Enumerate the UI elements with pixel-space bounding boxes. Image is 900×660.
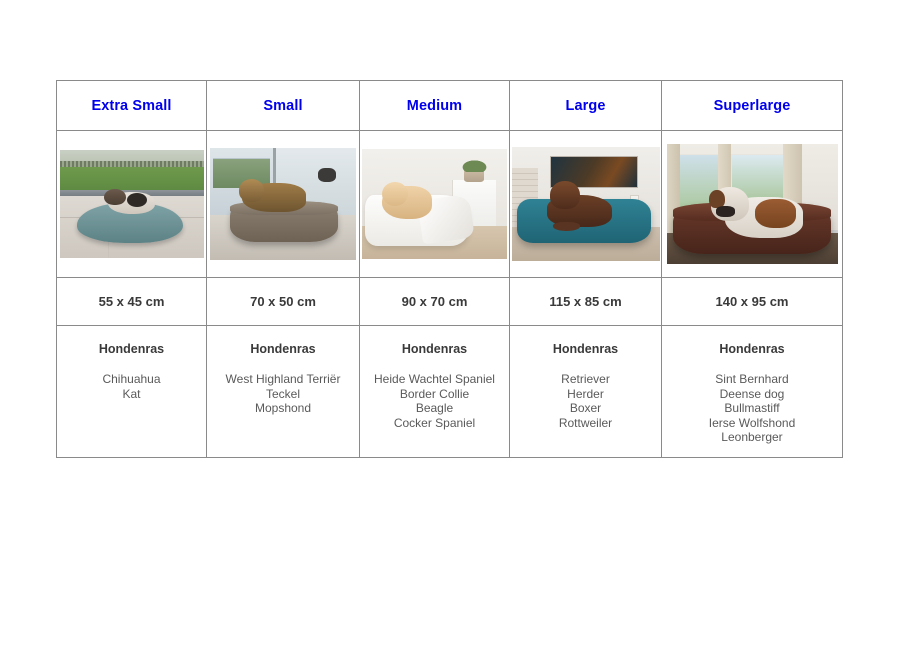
breed-item: West Highland Terriër — [207, 372, 359, 387]
breeds-title-large: Hondenras — [510, 342, 661, 356]
breeds-list-small: West Highland TerriërTeckelMopshond — [207, 372, 359, 416]
product-photo-superlarge — [667, 144, 838, 264]
header-cell-large: Large — [510, 81, 662, 131]
breeds-list-medium: Heide Wachtel SpanielBorder CollieBeagle… — [360, 372, 509, 430]
breed-item: Chihuahua — [57, 372, 206, 387]
breeds-list-large: RetrieverHerderBoxerRottweiler — [510, 372, 661, 430]
product-photo-extra-small — [60, 150, 204, 258]
breeds-title-extra-small: Hondenras — [57, 342, 206, 356]
size-name-small: Small — [207, 98, 359, 114]
breed-item: Teckel — [207, 387, 359, 402]
breeds-cell-superlarge: Hondenras Sint BernhardDeense dogBullmas… — [662, 326, 843, 458]
breed-item: Boxer — [510, 401, 661, 416]
breeds-cell-medium: Hondenras Heide Wachtel SpanielBorder Co… — [360, 326, 510, 458]
breed-item: Retriever — [510, 372, 661, 387]
breeds-cell-large: Hondenras RetrieverHerderBoxerRottweiler — [510, 326, 662, 458]
image-cell-small — [207, 131, 360, 278]
product-photo-medium — [362, 149, 507, 259]
breeds-list-superlarge: Sint BernhardDeense dogBullmastiffIerse … — [662, 372, 842, 445]
image-cell-extra-small — [57, 131, 207, 278]
dog-bed-size-table: Extra Small Small Medium Large Superlarg… — [56, 80, 843, 458]
breed-item: Beagle — [360, 401, 509, 416]
product-photo-small — [210, 148, 356, 260]
breed-item: Rottweiler — [510, 416, 661, 431]
breed-item: Cocker Spaniel — [360, 416, 509, 431]
dimensions-cell-large: 115 x 85 cm — [510, 278, 662, 326]
dimensions-cell-medium: 90 x 70 cm — [360, 278, 510, 326]
table-header-row: Extra Small Small Medium Large Superlarg… — [57, 81, 843, 131]
dimensions-large: 115 x 85 cm — [510, 294, 661, 309]
table-dimensions-row: 55 x 45 cm 70 x 50 cm 90 x 70 cm 115 x 8… — [57, 278, 843, 326]
product-photo-large — [512, 147, 660, 261]
header-cell-medium: Medium — [360, 81, 510, 131]
header-cell-extra-small: Extra Small — [57, 81, 207, 131]
dimensions-extra-small: 55 x 45 cm — [57, 294, 206, 309]
size-chart-page: Extra Small Small Medium Large Superlarg… — [0, 0, 900, 660]
breed-item: Sint Bernhard — [662, 372, 842, 387]
dimensions-cell-superlarge: 140 x 95 cm — [662, 278, 843, 326]
breed-item: Heide Wachtel Spaniel — [360, 372, 509, 387]
size-name-superlarge: Superlarge — [662, 98, 842, 114]
size-name-large: Large — [510, 98, 661, 114]
breeds-cell-extra-small: Hondenras ChihuahuaKat — [57, 326, 207, 458]
table-breeds-row: Hondenras ChihuahuaKat Hondenras West Hi… — [57, 326, 843, 458]
breeds-list-extra-small: ChihuahuaKat — [57, 372, 206, 401]
image-cell-medium — [360, 131, 510, 278]
dimensions-cell-small: 70 x 50 cm — [207, 278, 360, 326]
breeds-cell-small: Hondenras West Highland TerriërTeckelMop… — [207, 326, 360, 458]
header-cell-small: Small — [207, 81, 360, 131]
breed-item: Mopshond — [207, 401, 359, 416]
size-name-extra-small: Extra Small — [57, 98, 206, 114]
dimensions-cell-extra-small: 55 x 45 cm — [57, 278, 207, 326]
image-cell-large — [510, 131, 662, 278]
image-cell-superlarge — [662, 131, 843, 278]
breeds-title-superlarge: Hondenras — [662, 342, 842, 356]
header-cell-superlarge: Superlarge — [662, 81, 843, 131]
breed-item: Ierse Wolfshond — [662, 416, 842, 431]
breed-item: Herder — [510, 387, 661, 402]
breed-item: Border Collie — [360, 387, 509, 402]
dimensions-small: 70 x 50 cm — [207, 294, 359, 309]
breed-item: Kat — [57, 387, 206, 402]
size-name-medium: Medium — [360, 98, 509, 114]
breeds-title-medium: Hondenras — [360, 342, 509, 356]
dimensions-medium: 90 x 70 cm — [360, 294, 509, 309]
breeds-title-small: Hondenras — [207, 342, 359, 356]
table-image-row — [57, 131, 843, 278]
breed-item: Deense dog — [662, 387, 842, 402]
breed-item: Bullmastiff — [662, 401, 842, 416]
breed-item: Leonberger — [662, 430, 842, 445]
dimensions-superlarge: 140 x 95 cm — [662, 294, 842, 309]
